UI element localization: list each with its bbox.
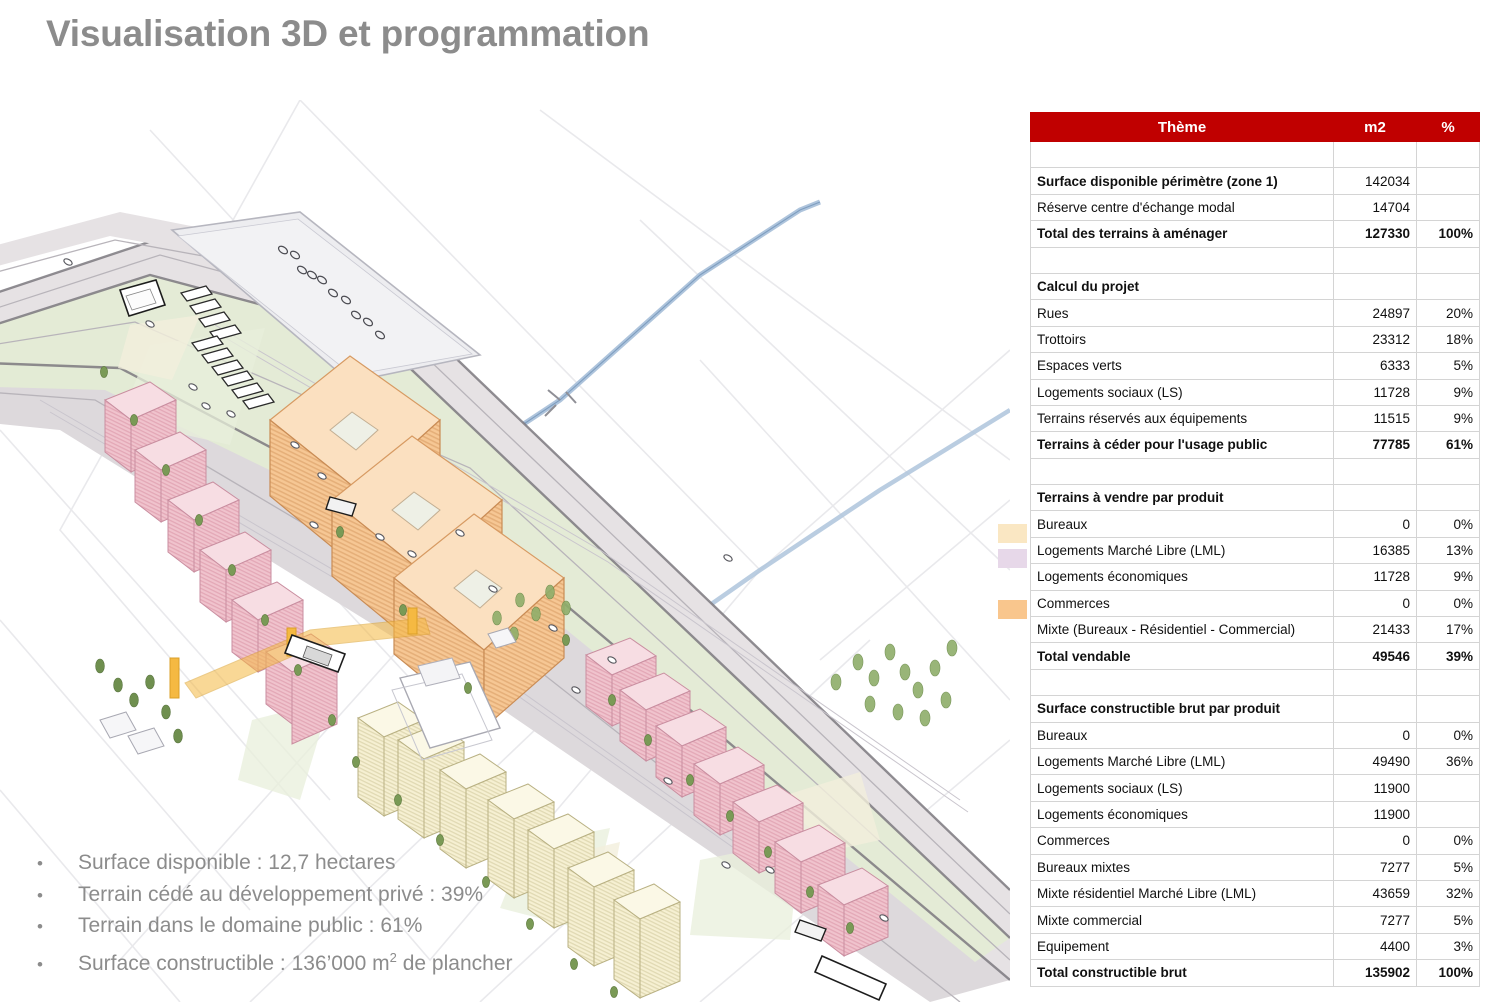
summary-item-2: Terrain cédé au développement privé : 39…: [78, 880, 483, 911]
table-row: Commerces00%: [1031, 590, 1480, 616]
cell-theme: [1031, 458, 1334, 484]
cell-m2: 43659: [1334, 880, 1417, 906]
cell-m2: [1334, 696, 1417, 722]
cell-m2: 24897: [1334, 300, 1417, 326]
cell-percent: [1417, 458, 1480, 484]
cell-percent: 18%: [1417, 326, 1480, 352]
cell-percent: 0%: [1417, 828, 1480, 854]
legend-color-swatch: [998, 524, 1027, 543]
table-row: Bureaux mixtes72775%: [1031, 854, 1480, 880]
cell-m2: 16385: [1334, 537, 1417, 563]
table-row: Mixte résidentiel Marché Libre (LML)4365…: [1031, 880, 1480, 906]
bullet-icon: •: [32, 912, 78, 943]
table-row: Rues2489720%: [1031, 300, 1480, 326]
programme-table-body: Surface disponible périmètre (zone 1)142…: [1031, 142, 1480, 987]
cell-percent: 0%: [1417, 590, 1480, 616]
legend-swatch-gutter: [998, 112, 1028, 957]
cell-m2: 23312: [1334, 326, 1417, 352]
cell-theme: Logements sociaux (LS): [1031, 379, 1334, 405]
cell-m2: 127330: [1334, 221, 1417, 247]
cell-percent: [1417, 247, 1480, 273]
table-row: Terrains à céder pour l'usage public7778…: [1031, 432, 1480, 458]
cell-percent: [1417, 669, 1480, 695]
cell-theme: Trottoirs: [1031, 326, 1334, 352]
column-header-percent: %: [1417, 113, 1480, 142]
cell-theme: [1031, 247, 1334, 273]
cell-m2: 11900: [1334, 801, 1417, 827]
table-row: Logements sociaux (LS)11900: [1031, 775, 1480, 801]
cell-m2: 135902: [1334, 960, 1417, 986]
table-row: Réserve centre d'échange modal14704: [1031, 194, 1480, 220]
cell-m2: [1334, 247, 1417, 273]
cell-percent: 39%: [1417, 643, 1480, 669]
cell-theme: Bureaux mixtes: [1031, 854, 1334, 880]
table-row: Total vendable4954639%: [1031, 643, 1480, 669]
cell-percent: 0%: [1417, 722, 1480, 748]
cell-theme: Calcul du projet: [1031, 273, 1334, 299]
bullet-icon: •: [32, 849, 78, 880]
list-item: • Surface constructible : 136’000 m2 de …: [32, 943, 672, 981]
cell-percent: [1417, 194, 1480, 220]
cell-m2: 11900: [1334, 775, 1417, 801]
table-header-row: Thème m2 %: [1031, 113, 1480, 142]
table-spacer-row: [1031, 458, 1480, 484]
column-header-theme: Thème: [1031, 113, 1334, 142]
table-row: Logements sociaux (LS)117289%: [1031, 379, 1480, 405]
cell-percent: 0%: [1417, 511, 1480, 537]
cell-m2: 49490: [1334, 748, 1417, 774]
cell-percent: 3%: [1417, 933, 1480, 959]
cell-theme: Mixte commercial: [1031, 907, 1334, 933]
cell-percent: 32%: [1417, 880, 1480, 906]
table-spacer-row: [1031, 669, 1480, 695]
cell-m2: 142034: [1334, 168, 1417, 194]
cell-percent: 9%: [1417, 405, 1480, 431]
cell-theme: Surface disponible périmètre (zone 1): [1031, 168, 1334, 194]
cell-percent: 100%: [1417, 221, 1480, 247]
cell-percent: 17%: [1417, 617, 1480, 643]
summary-item-3: Terrain dans le domaine public : 61%: [78, 911, 422, 942]
cell-percent: 100%: [1417, 960, 1480, 986]
table-row: Surface constructible brut par produit: [1031, 696, 1480, 722]
cell-m2: 11728: [1334, 564, 1417, 590]
cell-theme: Commerces: [1031, 828, 1334, 854]
cell-theme: Logements Marché Libre (LML): [1031, 537, 1334, 563]
cell-m2: 0: [1334, 511, 1417, 537]
cell-m2: [1334, 458, 1417, 484]
cell-m2: 21433: [1334, 617, 1417, 643]
cell-m2: 11728: [1334, 379, 1417, 405]
cell-theme: Total vendable: [1031, 643, 1334, 669]
cell-m2: 7277: [1334, 854, 1417, 880]
cell-m2: [1334, 273, 1417, 299]
cell-theme: [1031, 142, 1334, 168]
table-row: Total des terrains à aménager127330100%: [1031, 221, 1480, 247]
table-row: Commerces00%: [1031, 828, 1480, 854]
table-row: Logements économiques11900: [1031, 801, 1480, 827]
cell-theme: Logements sociaux (LS): [1031, 775, 1334, 801]
summary-item-4-suffix: de plancher: [397, 952, 513, 975]
table-row: Surface disponible périmètre (zone 1)142…: [1031, 168, 1480, 194]
list-item: • Terrain cédé au développement privé : …: [32, 880, 672, 912]
cell-percent: 13%: [1417, 537, 1480, 563]
cell-theme: Logements Marché Libre (LML): [1031, 748, 1334, 774]
cell-percent: [1417, 142, 1480, 168]
page-title: Visualisation 3D et programmation: [46, 13, 649, 55]
table-spacer-row: [1031, 247, 1480, 273]
list-item: • Terrain dans le domaine public : 61%: [32, 911, 672, 943]
cell-m2: 7277: [1334, 907, 1417, 933]
table-row: Bureaux00%: [1031, 511, 1480, 537]
cell-theme: Espaces verts: [1031, 353, 1334, 379]
cell-percent: [1417, 273, 1480, 299]
bullet-icon: •: [32, 881, 78, 912]
cell-m2: [1334, 142, 1417, 168]
cell-m2: 77785: [1334, 432, 1417, 458]
table-row: Espaces verts63335%: [1031, 353, 1480, 379]
cell-m2: [1334, 485, 1417, 511]
summary-item-4: Surface constructible : 136’000 m2 de pl…: [78, 943, 513, 980]
cell-m2: 4400: [1334, 933, 1417, 959]
cell-theme: Rues: [1031, 300, 1334, 326]
cell-percent: 5%: [1417, 907, 1480, 933]
cell-theme: Terrains à céder pour l'usage public: [1031, 432, 1334, 458]
cell-percent: 61%: [1417, 432, 1480, 458]
cell-m2: 14704: [1334, 194, 1417, 220]
table-row: Mixte commercial72775%: [1031, 907, 1480, 933]
bullet-icon: •: [32, 950, 78, 981]
cell-theme: Bureaux: [1031, 511, 1334, 537]
cell-percent: [1417, 801, 1480, 827]
table-row: Total constructible brut135902100%: [1031, 960, 1480, 986]
cell-percent: 5%: [1417, 353, 1480, 379]
cell-percent: 9%: [1417, 379, 1480, 405]
cell-m2: 49546: [1334, 643, 1417, 669]
cell-percent: 5%: [1417, 854, 1480, 880]
cell-percent: 36%: [1417, 748, 1480, 774]
cell-percent: 9%: [1417, 564, 1480, 590]
cell-theme: Terrains réservés aux équipements: [1031, 405, 1334, 431]
cell-m2: 11515: [1334, 405, 1417, 431]
cell-theme: Bureaux: [1031, 722, 1334, 748]
cell-percent: 20%: [1417, 300, 1480, 326]
column-header-m2: m2: [1334, 113, 1417, 142]
cell-theme: Logements économiques: [1031, 801, 1334, 827]
table-row: Terrains à vendre par produit: [1031, 485, 1480, 511]
cell-percent: [1417, 696, 1480, 722]
cell-m2: 0: [1334, 828, 1417, 854]
cell-m2: 6333: [1334, 353, 1417, 379]
table-row: Logements Marché Libre (LML)1638513%: [1031, 537, 1480, 563]
cell-theme: Equipement: [1031, 933, 1334, 959]
cell-theme: Terrains à vendre par produit: [1031, 485, 1334, 511]
summary-bullet-list: • Surface disponible : 12,7 hectares • T…: [32, 848, 672, 980]
table-spacer-row: [1031, 142, 1480, 168]
superscript-two: 2: [390, 950, 397, 965]
summary-item-1: Surface disponible : 12,7 hectares: [78, 848, 396, 879]
cell-m2: 0: [1334, 722, 1417, 748]
table-row: Calcul du projet: [1031, 273, 1480, 299]
table-row: Logements économiques117289%: [1031, 564, 1480, 590]
table-row: Mixte (Bureaux - Résidentiel - Commercia…: [1031, 617, 1480, 643]
table-row: Bureaux00%: [1031, 722, 1480, 748]
legend-color-swatch: [998, 549, 1027, 568]
cell-percent: [1417, 485, 1480, 511]
programme-table: Thème m2 % Surface disponible périmètre …: [1030, 112, 1480, 987]
cell-theme: Total constructible brut: [1031, 960, 1334, 986]
table-row: Terrains réservés aux équipements115159%: [1031, 405, 1480, 431]
cell-theme: Total des terrains à aménager: [1031, 221, 1334, 247]
cell-m2: [1334, 669, 1417, 695]
table-row: Logements Marché Libre (LML)4949036%: [1031, 748, 1480, 774]
cell-theme: Commerces: [1031, 590, 1334, 616]
cell-theme: Mixte résidentiel Marché Libre (LML): [1031, 880, 1334, 906]
summary-item-4-prefix: Surface constructible : 136’000 m: [78, 952, 390, 975]
cell-m2: 0: [1334, 590, 1417, 616]
cell-theme: [1031, 669, 1334, 695]
cell-theme: Surface constructible brut par produit: [1031, 696, 1334, 722]
programme-table-container: Thème m2 % Surface disponible périmètre …: [1030, 112, 1479, 987]
cell-percent: [1417, 168, 1480, 194]
cell-theme: Logements économiques: [1031, 564, 1334, 590]
cell-percent: [1417, 775, 1480, 801]
cell-theme: Réserve centre d'échange modal: [1031, 194, 1334, 220]
legend-color-swatch: [998, 600, 1027, 619]
list-item: • Surface disponible : 12,7 hectares: [32, 848, 672, 880]
table-row: Equipement44003%: [1031, 933, 1480, 959]
cell-theme: Mixte (Bureaux - Résidentiel - Commercia…: [1031, 617, 1334, 643]
table-row: Trottoirs2331218%: [1031, 326, 1480, 352]
